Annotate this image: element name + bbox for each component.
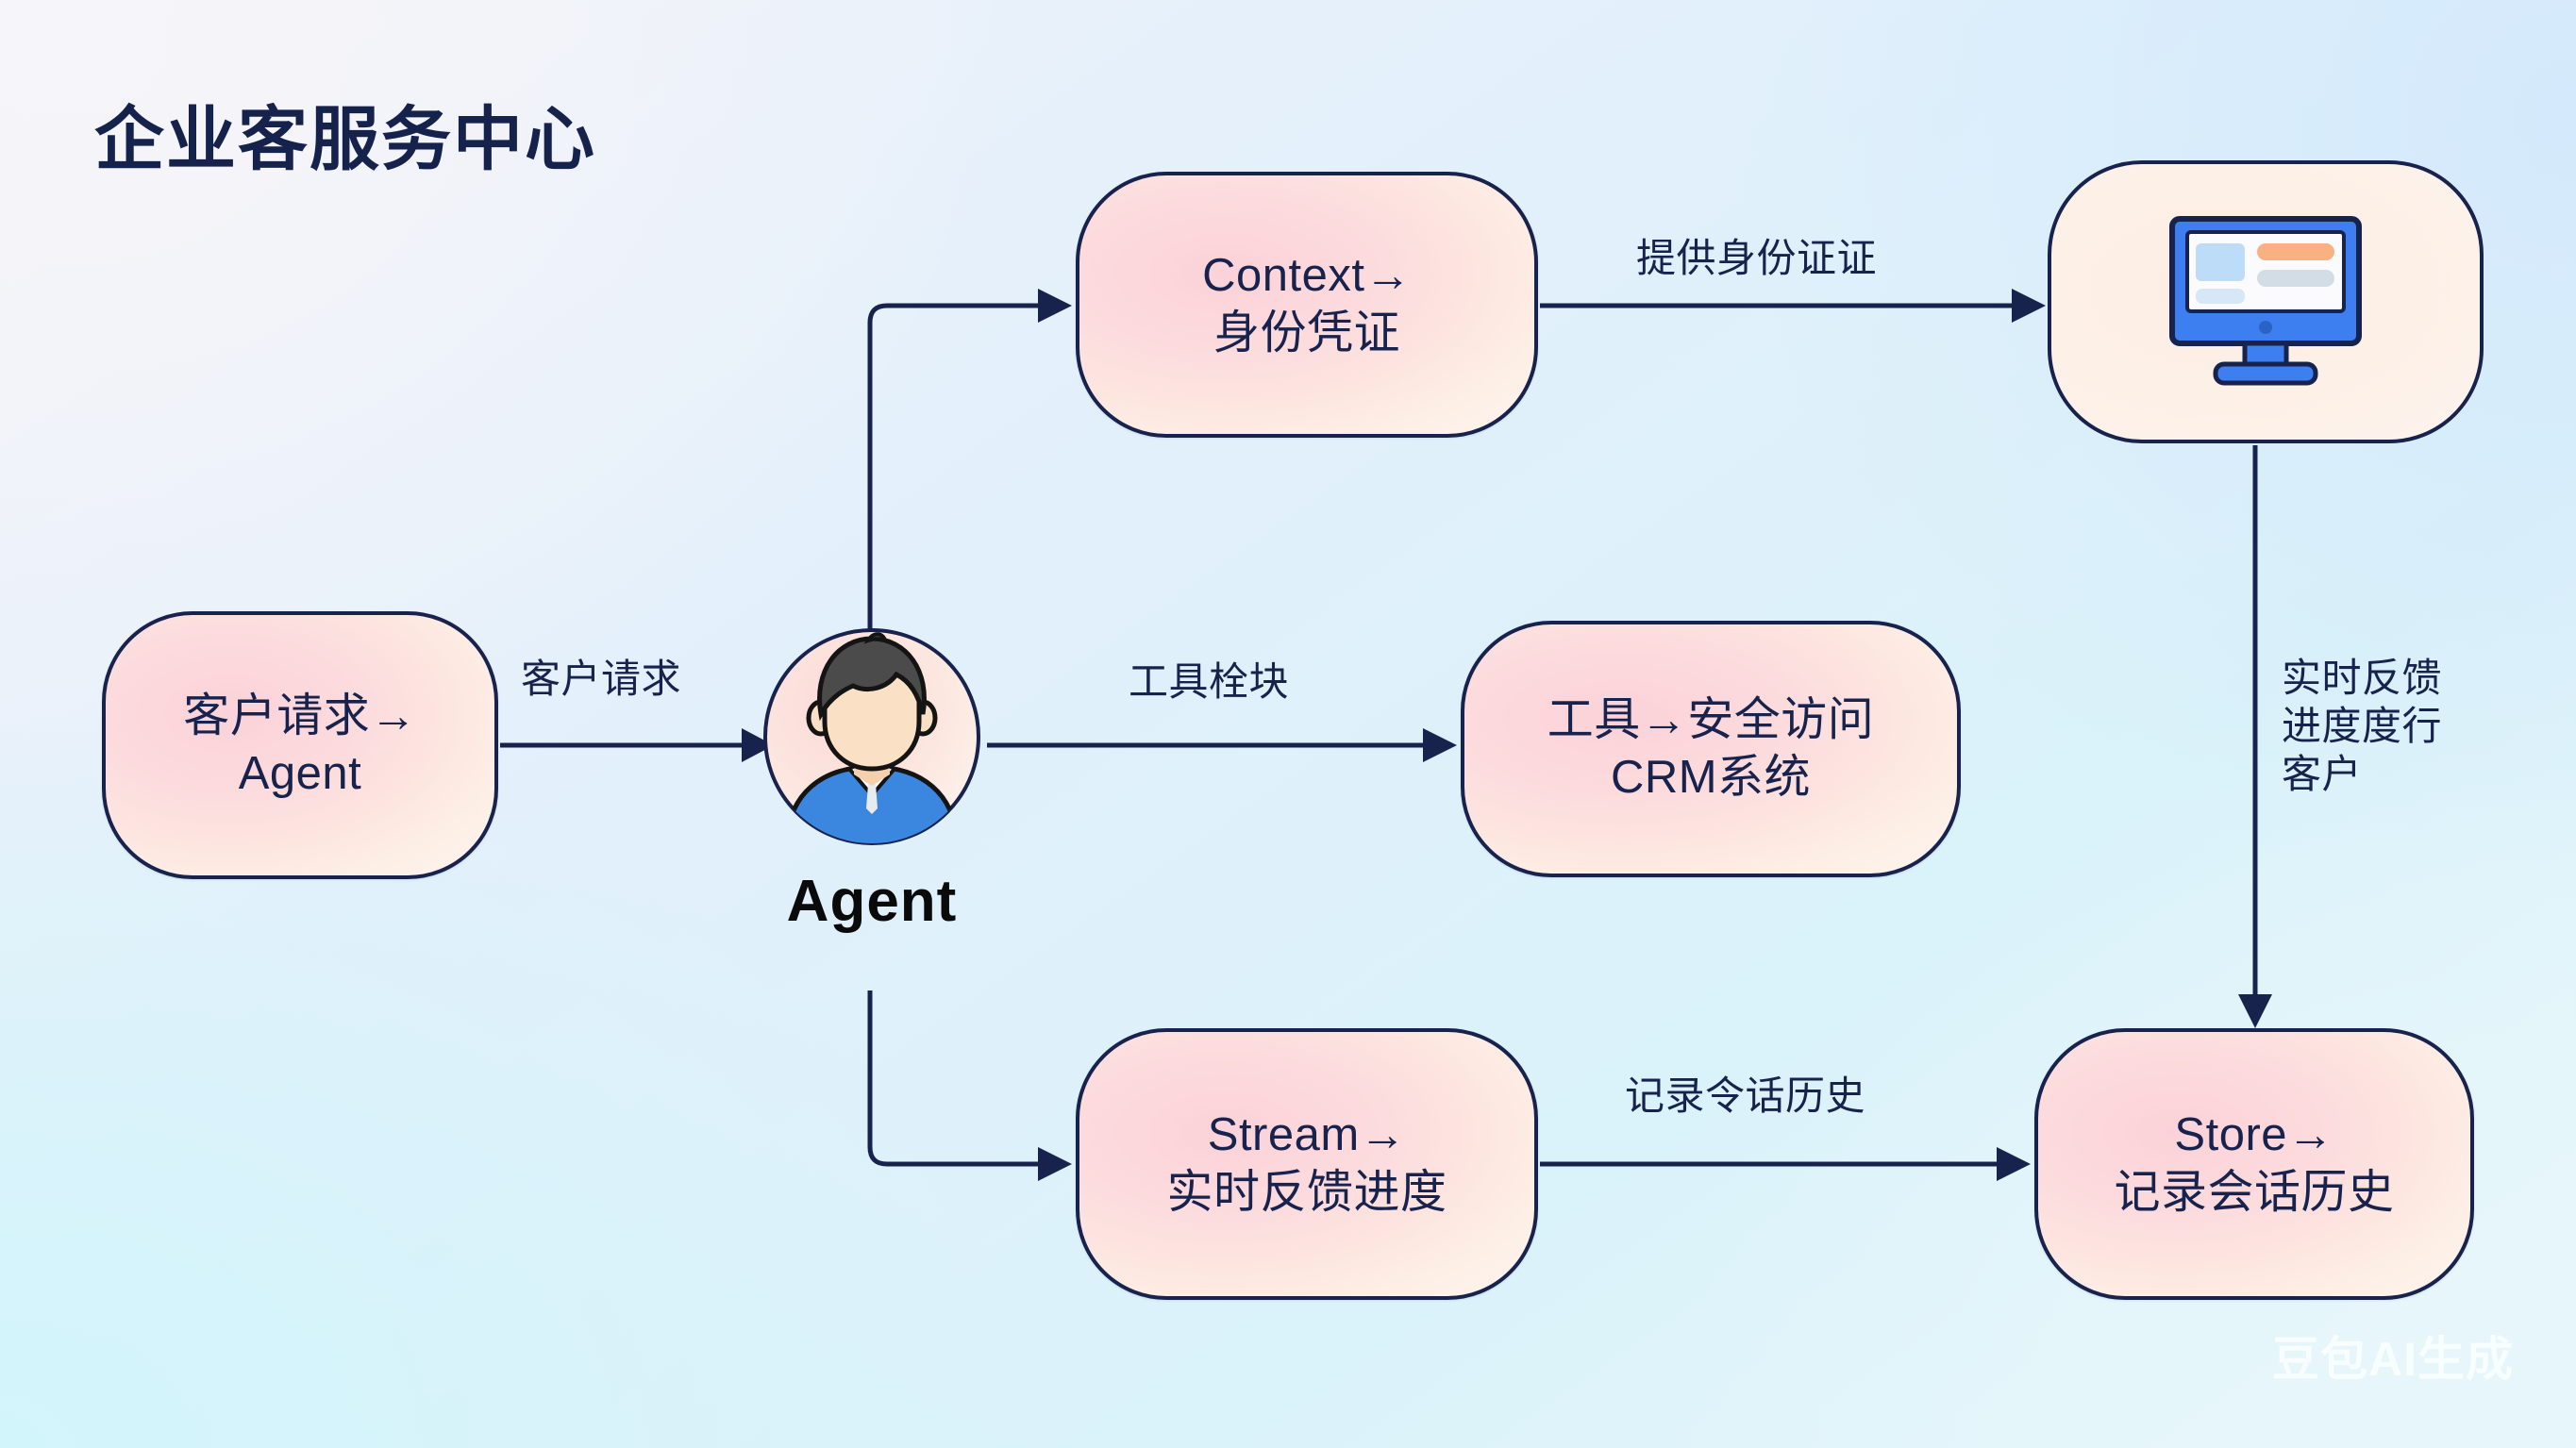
node-request-label: 客户请求→ Agent — [166, 688, 434, 803]
desktop-monitor-icon — [2157, 208, 2374, 396]
wire-agent-to-context — [870, 306, 1038, 634]
edge-label-monitor-to-store: 实时反馈 进度度行 客户 — [2282, 654, 2442, 799]
edge-label-context-to-monitor: 提供身份证证 — [1636, 234, 1877, 282]
node-store[interactable]: Store→ 记录会话历史 — [2034, 1028, 2474, 1300]
node-context-label: Context→ 身份凭证 — [1185, 247, 1429, 362]
wire-agent-to-stream — [870, 990, 1038, 1164]
node-store-label: Store→ 记录会话历史 — [2097, 1107, 2411, 1222]
node-stream-label: Stream→ 实时反馈进度 — [1149, 1107, 1464, 1222]
arrowhead-context-to-monitor — [2012, 289, 2046, 323]
edge-label-stream-to-store: 记录令话历史 — [1625, 1072, 1865, 1120]
node-tool[interactable]: 工具→安全访问 CRM系统 — [1461, 621, 1961, 877]
edge-label-request-to-agent: 客户请求 — [521, 655, 681, 703]
arrowhead-monitor-to-store — [2238, 994, 2272, 1028]
arrowhead-stream-to-store — [1997, 1147, 2031, 1181]
node-monitor-system[interactable] — [2048, 160, 2484, 443]
agent-label: Agent — [762, 868, 981, 935]
edge-label-agent-to-tool: 工具栓块 — [1129, 657, 1289, 706]
node-tool-label: 工具→安全访问 CRM系统 — [1531, 691, 1892, 807]
diagram-canvas: 企业客服务中心 — [0, 0, 2576, 1448]
node-context[interactable]: Context→ 身份凭证 — [1076, 172, 1538, 438]
arrowhead-agent-to-stream — [1038, 1147, 1072, 1181]
watermark: 豆包AI生成 — [2272, 1322, 2514, 1390]
arrowhead-agent-to-context — [1038, 289, 1072, 323]
node-stream[interactable]: Stream→ 实时反馈进度 — [1076, 1028, 1538, 1300]
avatar-tie — [866, 784, 878, 814]
avatar-hair-tuft — [868, 634, 885, 641]
agent-avatar[interactable] — [762, 627, 981, 846]
node-request[interactable]: 客户请求→ Agent — [102, 611, 498, 879]
arrowhead-agent-to-tool — [1423, 728, 1457, 762]
